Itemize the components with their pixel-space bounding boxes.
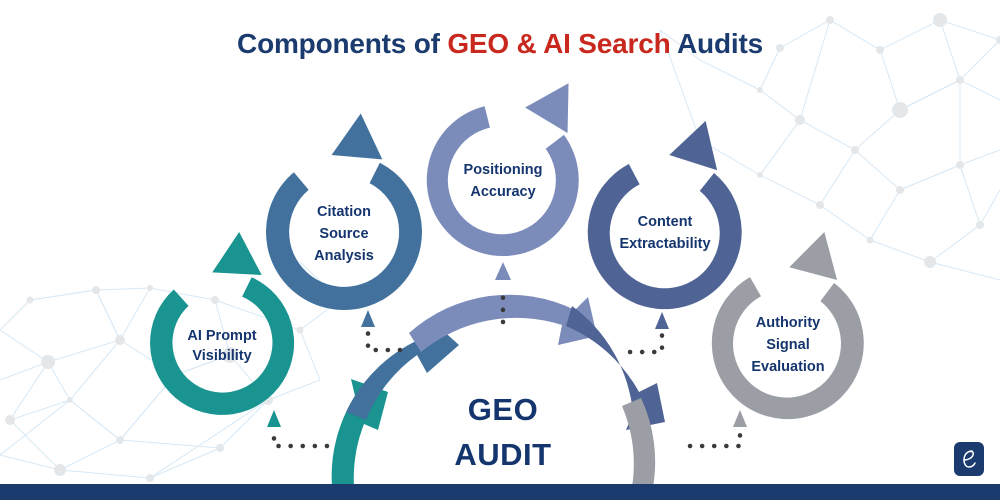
node-label: Signal [766, 337, 810, 353]
node-positioning-accuracy[interactable]: Positioning Accuracy [411, 83, 595, 272]
connector-ai-prompt-visibility [267, 410, 327, 446]
node-label: Citation [317, 204, 371, 220]
node-label: Visibility [192, 348, 251, 364]
center-label-line2: AUDIT [454, 437, 551, 472]
node-label: Evaluation [751, 359, 824, 375]
node-label: Analysis [314, 248, 374, 264]
connector-citation-source-analysis [361, 310, 400, 350]
node-label: Content [638, 214, 693, 230]
brand-logo[interactable] [954, 442, 984, 476]
node-label: AI Prompt [187, 328, 256, 344]
node-label: Extractability [619, 236, 710, 252]
infographic-page: Components of GEO & AI Search Audits GEO… [0, 0, 1000, 500]
node-label: Authority [756, 315, 820, 331]
connector-content-extractability [630, 312, 669, 352]
node-label: Positioning [464, 162, 543, 178]
script-e-icon [959, 447, 979, 471]
node-label: Accuracy [470, 184, 535, 200]
arc-segment-slate [566, 306, 665, 430]
bottom-accent-bar [0, 484, 1000, 500]
connector-authority-signal-evaluation [690, 410, 747, 446]
geo-audit-cycle-diagram: GEO AUDIT [0, 0, 1000, 500]
node-label: Source [319, 226, 368, 242]
center-label-line1: GEO [468, 392, 538, 427]
